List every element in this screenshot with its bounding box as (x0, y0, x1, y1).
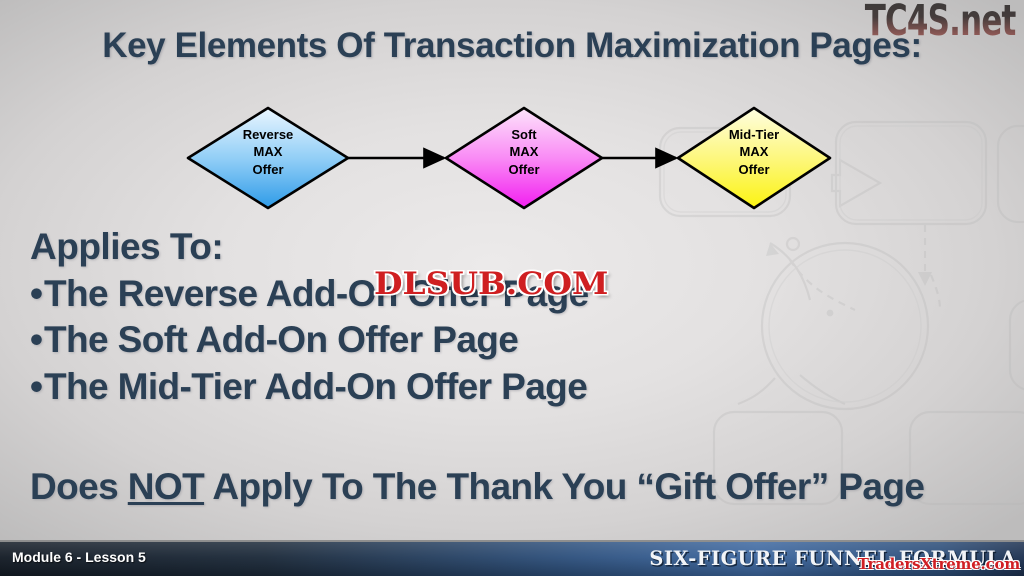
list-item: •The Mid-Tier Add-On Offer Page (30, 364, 589, 410)
watermark-dlsub: DLSUB.COM (374, 266, 608, 302)
footer-bar: Module 6 - Lesson 5 SIX-FIGURE FUNNEL FO… (0, 540, 1024, 576)
bullet-dot-icon: • (30, 273, 44, 314)
watermark-tc4s: TC4S.net (865, 0, 1016, 46)
slide-canvas: Key Elements Of Transaction Maximization… (0, 0, 1024, 576)
watermark-tradersxtreme: TradersXtreme.com (858, 555, 1020, 573)
not-line-emphasis: NOT (128, 466, 204, 507)
list-item-label: The Mid-Tier Add-On Offer Page (44, 366, 587, 407)
not-line-before: Does (30, 466, 128, 507)
flow-diagram: Reverse MAX Offer Soft MAX Offer Mid-Tie… (0, 95, 1024, 220)
flow-node-reverse (188, 108, 348, 208)
body-copy: Applies To: •The Reverse Add-On Offer Pa… (30, 228, 589, 410)
bullet-dot-icon: • (30, 366, 44, 407)
list-item-label: The Soft Add-On Offer Page (44, 319, 518, 360)
flow-node-mid-tier (678, 108, 830, 208)
does-not-apply-line: Does NOT Apply To The Thank You “Gift Of… (30, 466, 924, 508)
footer-lesson-label: Module 6 - Lesson 5 (12, 549, 146, 565)
not-line-after: Apply To The Thank You “Gift Offer” Page (204, 466, 924, 507)
flow-node-soft (446, 108, 602, 208)
list-item: •The Soft Add-On Offer Page (30, 317, 589, 363)
bullet-dot-icon: • (30, 319, 44, 360)
applies-to-heading: Applies To: (30, 228, 589, 265)
